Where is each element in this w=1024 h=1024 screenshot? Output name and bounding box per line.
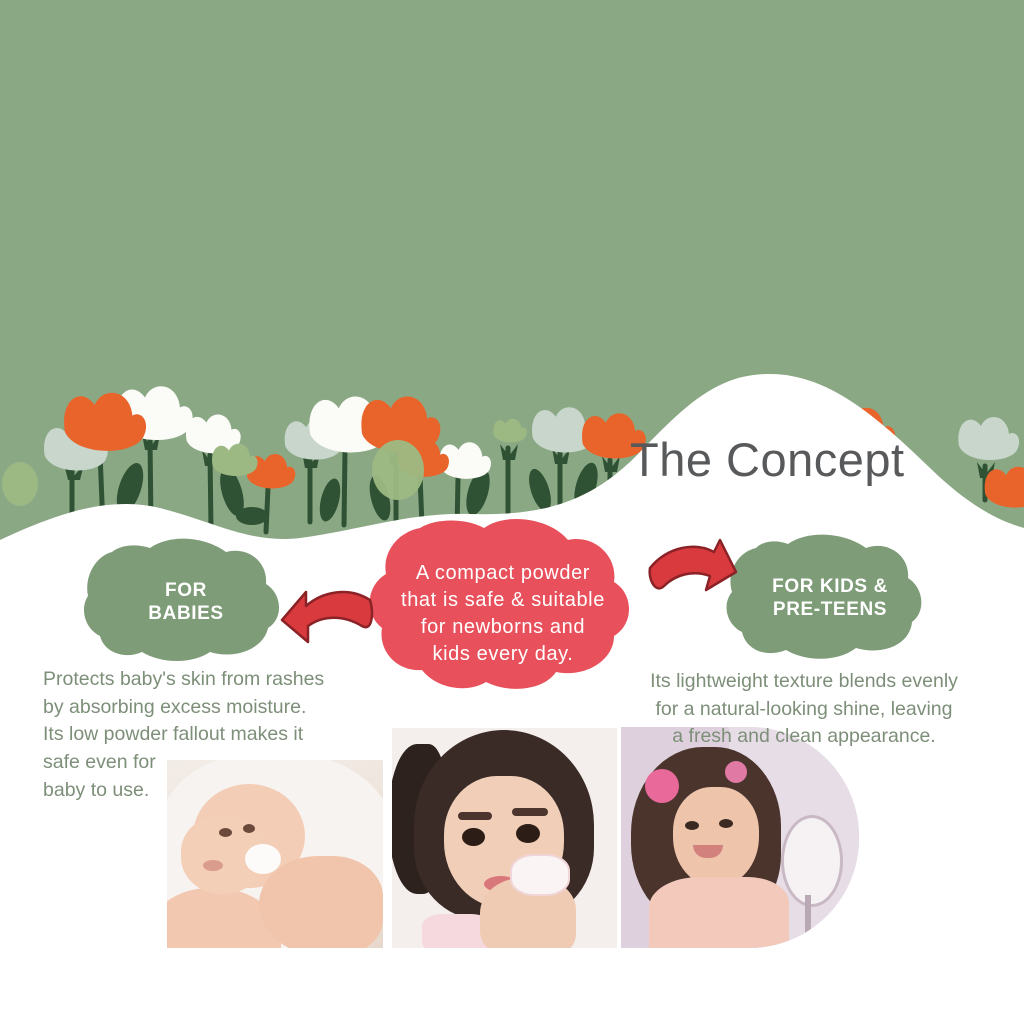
photo-girl-eye-left [685, 821, 699, 830]
photo-mirror-stand [805, 895, 811, 941]
photo-girl-eye-left [462, 828, 485, 846]
photo-adult-hand [259, 856, 383, 948]
photo-girl-brow-left [458, 812, 492, 820]
page-title: The Concept [630, 432, 905, 487]
right-body-line2: for a natural-looking shine, leaving [618, 696, 990, 724]
left-body-line2: by absorbing excess moisture. [43, 694, 373, 722]
photo-powder-puff [510, 854, 570, 896]
left-body-line5: baby to use. [43, 777, 373, 805]
photo-girl-eye-right [516, 824, 540, 843]
photo-baby-eye-right [243, 824, 255, 833]
girl-mirror-photo [621, 727, 859, 948]
left-body-text: Protects baby's skin from rashes by abso… [43, 666, 373, 804]
photo-girl-dress [649, 877, 789, 948]
left-arrow-icon [282, 592, 372, 642]
photo-girl-brow-right [512, 808, 548, 816]
right-arrow-icon [650, 540, 736, 590]
left-body-line3: Its low powder fallout makes it [43, 721, 373, 749]
photo-hair-curler-small [725, 761, 747, 783]
photo-girl-eye-right [719, 819, 733, 828]
right-body-line3: a fresh and clean appearance. [618, 723, 990, 751]
concept-infographic: The Concept [0, 0, 1024, 1024]
left-body-line4: safe even for [43, 749, 373, 777]
left-body-line1: Protects baby's skin from rashes [43, 666, 373, 694]
photo-baby-eye-left [219, 828, 232, 837]
right-body-line1: Its lightweight texture blends evenly [618, 668, 990, 696]
photo-mirror [781, 815, 843, 907]
right-body-text: Its lightweight texture blends evenly fo… [618, 668, 990, 751]
photo-girl-face [673, 787, 759, 887]
photo-baby-mouth [203, 860, 223, 871]
girl-powder-photo [392, 728, 617, 948]
photo-hair-curler-large [645, 769, 679, 803]
